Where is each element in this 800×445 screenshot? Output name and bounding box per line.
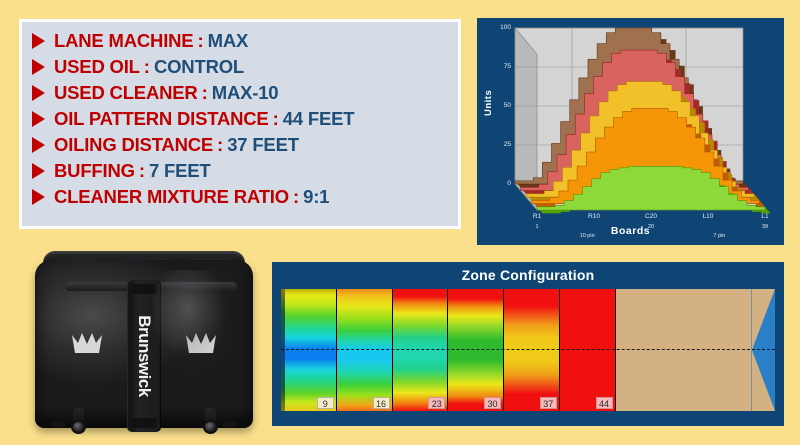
zone-configuration-panel: Zone Configuration 91623303744 <box>272 262 784 426</box>
lane-center-line <box>281 349 775 350</box>
info-row: BUFFING:7 FEET <box>32 158 458 184</box>
red-triangle-bullet-icon <box>32 137 45 153</box>
red-triangle-bullet-icon <box>32 111 45 127</box>
machine-caster-left <box>71 408 86 434</box>
oil-pattern-chart-panel: 0255075100R1R10C20L10L11203910 pin7 pin … <box>477 18 784 245</box>
machine-foot-right <box>223 422 237 427</box>
info-row-value: CONTROL <box>154 56 244 78</box>
chart-y-tick: 100 <box>489 24 511 31</box>
chart-x-tick: R1 <box>522 213 552 220</box>
zone-left-edge <box>281 289 285 411</box>
info-row-label: BUFFING <box>54 160 135 182</box>
zone-distance-label: 37 <box>540 397 557 409</box>
chart-x-tick: L1 <box>750 213 780 220</box>
machine-foot-left <box>51 422 65 427</box>
dry-lane-area <box>616 289 752 411</box>
info-row-separator: : <box>269 108 283 130</box>
info-row: USED OIL:CONTROL <box>32 54 458 80</box>
zone-segment[interactable]: 9 <box>281 289 337 411</box>
info-row-separator: : <box>140 56 154 78</box>
red-triangle-bullet-icon <box>32 85 45 101</box>
info-row-value: 37 FEET <box>227 134 299 156</box>
info-row-label: CLEANER MIXTURE RATIO <box>54 186 289 208</box>
info-row-label: USED OIL <box>54 56 140 78</box>
brunswick-crown-icon <box>185 332 217 354</box>
zone-segment[interactable]: 30 <box>448 289 504 411</box>
info-row-value: 7 FEET <box>149 160 211 182</box>
info-row-separator: : <box>289 186 303 208</box>
chart-x-tick: C20 <box>636 213 666 220</box>
chart-x-axis-title: Boards <box>477 225 784 237</box>
chart-y-tick: 25 <box>489 141 511 148</box>
chart-x-tick: L10 <box>693 213 723 220</box>
red-triangle-bullet-icon <box>32 59 45 75</box>
zone-strip: 91623303744 <box>281 289 775 411</box>
spine-cap-bottom <box>131 418 157 428</box>
info-row: OIL PATTERN DISTANCE:44 FEET <box>32 106 458 132</box>
zone-segment[interactable]: 44 <box>560 289 616 411</box>
red-triangle-bullet-icon <box>32 33 45 49</box>
info-row-label: USED CLEANER <box>54 82 198 104</box>
info-row-label: OILING DISTANCE <box>54 134 213 156</box>
info-row-value: MAX-10 <box>212 82 279 104</box>
machine-brand-spine: Brunswick <box>127 280 161 432</box>
info-row-separator: : <box>193 30 207 52</box>
zone-distance-label: 30 <box>484 397 501 409</box>
brunswick-crown-icon <box>71 332 103 354</box>
info-row-separator: : <box>135 160 149 182</box>
zone-segment[interactable]: 16 <box>337 289 393 411</box>
zone-distance-label: 16 <box>373 397 390 409</box>
chart-y-tick: 75 <box>489 63 511 70</box>
info-row-separator: : <box>198 82 212 104</box>
lane-machine-photo: Brunswick <box>27 248 262 438</box>
info-row-label: LANE MACHINE <box>54 30 193 52</box>
left-pointing-triangle-arrow-icon <box>752 289 775 411</box>
zone-segment[interactable]: 23 <box>393 289 449 411</box>
info-row-label: OIL PATTERN DISTANCE <box>54 108 269 130</box>
brunswick-wordmark: Brunswick <box>134 315 154 396</box>
red-triangle-bullet-icon <box>32 163 45 179</box>
info-row: CLEANER MIXTURE RATIO:9:1 <box>32 184 458 210</box>
machine-caster-right <box>203 408 218 434</box>
zone-distance-label: 9 <box>317 397 334 409</box>
oil-pattern-3d-surface <box>477 18 784 245</box>
lane-condition-info-panel: LANE MACHINE:MAXUSED OIL:CONTROLUSED CLE… <box>19 19 461 229</box>
chart-y-tick: 0 <box>489 180 511 187</box>
info-row: USED CLEANER:MAX-10 <box>32 80 458 106</box>
chart-y-axis-title: Units <box>483 90 494 116</box>
chart-plot-area: 0255075100R1R10C20L10L11203910 pin7 pin <box>477 18 784 245</box>
zone-configuration-title: Zone Configuration <box>272 267 784 283</box>
chart-x-tick: R10 <box>579 213 609 220</box>
info-row-value: 44 FEET <box>283 108 355 130</box>
zone-distance-label: 44 <box>596 397 613 409</box>
lane-end-area <box>752 289 775 411</box>
info-row-value: MAX <box>208 30 249 52</box>
zone-distance-label: 23 <box>428 397 445 409</box>
machine-body: Brunswick <box>35 260 253 428</box>
spine-cap-top <box>131 284 157 294</box>
info-row-value: 9:1 <box>303 186 329 208</box>
info-row: OILING DISTANCE:37 FEET <box>32 132 458 158</box>
red-triangle-bullet-icon <box>32 189 45 205</box>
zone-segment[interactable]: 37 <box>504 289 560 411</box>
info-row: LANE MACHINE:MAX <box>32 28 458 54</box>
info-row-separator: : <box>213 134 227 156</box>
